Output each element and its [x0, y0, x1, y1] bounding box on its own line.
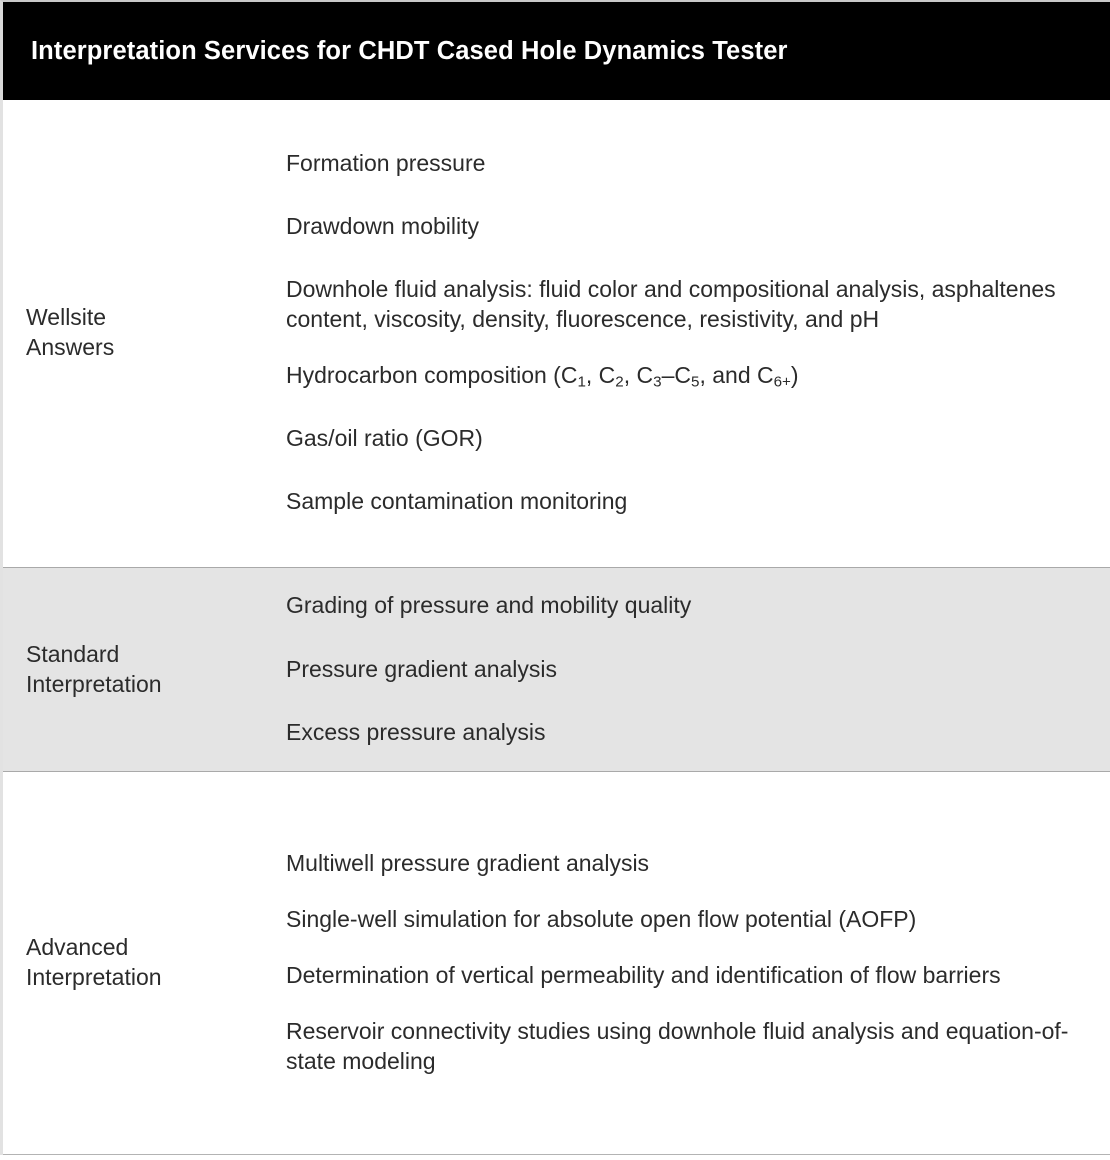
row-category-advanced-interpretation: Advanced Interpretation: [3, 933, 286, 992]
table-title: Interpretation Services for CHDT Cased H…: [31, 37, 788, 65]
table-row: Advanced Interpretation Multiwell pressu…: [3, 772, 1110, 1155]
interpretation-services-table: Interpretation Services for CHDT Cased H…: [0, 0, 1110, 1160]
list-item: Downhole fluid analysis: fluid color and…: [286, 275, 1096, 335]
list-item: Gas/oil ratio (GOR): [286, 424, 1096, 454]
table-row: Wellsite Answers Formation pressure Draw…: [3, 100, 1110, 567]
list-item: Formation pressure: [286, 149, 1096, 179]
list-item: Sample contamination monitoring: [286, 487, 1096, 517]
row-category-wellsite-answers: Wellsite Answers: [3, 303, 286, 362]
hydrocarbon-sub-5: 6+: [774, 374, 791, 391]
list-item: Reservoir connectivity studies using dow…: [286, 1017, 1096, 1077]
table-body: Wellsite Answers Formation pressure Draw…: [0, 100, 1110, 1155]
list-item: Multiwell pressure gradient analysis: [286, 849, 1096, 879]
list-item: Grading of pressure and mobility quality: [286, 591, 1096, 621]
hydrocarbon-sub-3: 3: [653, 374, 661, 391]
hydrocarbon-suffix: ): [791, 362, 799, 388]
hydrocarbon-prefix: Hydrocarbon composition (C: [286, 362, 577, 388]
row-items-wellsite-answers: Formation pressure Drawdown mobility Dow…: [286, 145, 1110, 521]
hydrocarbon-sub-1: 1: [577, 374, 585, 391]
table-header-bar: Interpretation Services for CHDT Cased H…: [0, 0, 1110, 100]
category-line: Standard: [26, 640, 278, 670]
hydrocarbon-dash: –C: [662, 362, 691, 388]
hydrocarbon-sub-2: 2: [615, 374, 623, 391]
hydrocarbon-mid-1: , C: [586, 362, 615, 388]
list-item: Pressure gradient analysis: [286, 655, 1096, 685]
list-item: Single-well simulation for absolute open…: [286, 905, 1096, 935]
row-category-standard-interpretation: Standard Interpretation: [3, 640, 286, 699]
list-item-hydrocarbon-composition: Hydrocarbon composition (C1, C2, C3–C5, …: [286, 361, 1096, 391]
hydrocarbon-mid-2: , C: [624, 362, 653, 388]
category-line: Interpretation: [26, 963, 278, 993]
category-line: Interpretation: [26, 670, 278, 700]
list-item: Drawdown mobility: [286, 212, 1096, 242]
table-row: Standard Interpretation Grading of press…: [3, 567, 1110, 772]
list-item: Determination of vertical permeability a…: [286, 961, 1096, 991]
category-line: Answers: [26, 333, 278, 363]
row-items-advanced-interpretation: Multiwell pressure gradient analysis Sin…: [286, 849, 1110, 1076]
category-line: Advanced: [26, 933, 278, 963]
hydrocarbon-mid-3: , and C: [699, 362, 773, 388]
category-line: Wellsite: [26, 303, 278, 333]
row-items-standard-interpretation: Grading of pressure and mobility quality…: [286, 591, 1110, 749]
list-item: Excess pressure analysis: [286, 718, 1096, 748]
